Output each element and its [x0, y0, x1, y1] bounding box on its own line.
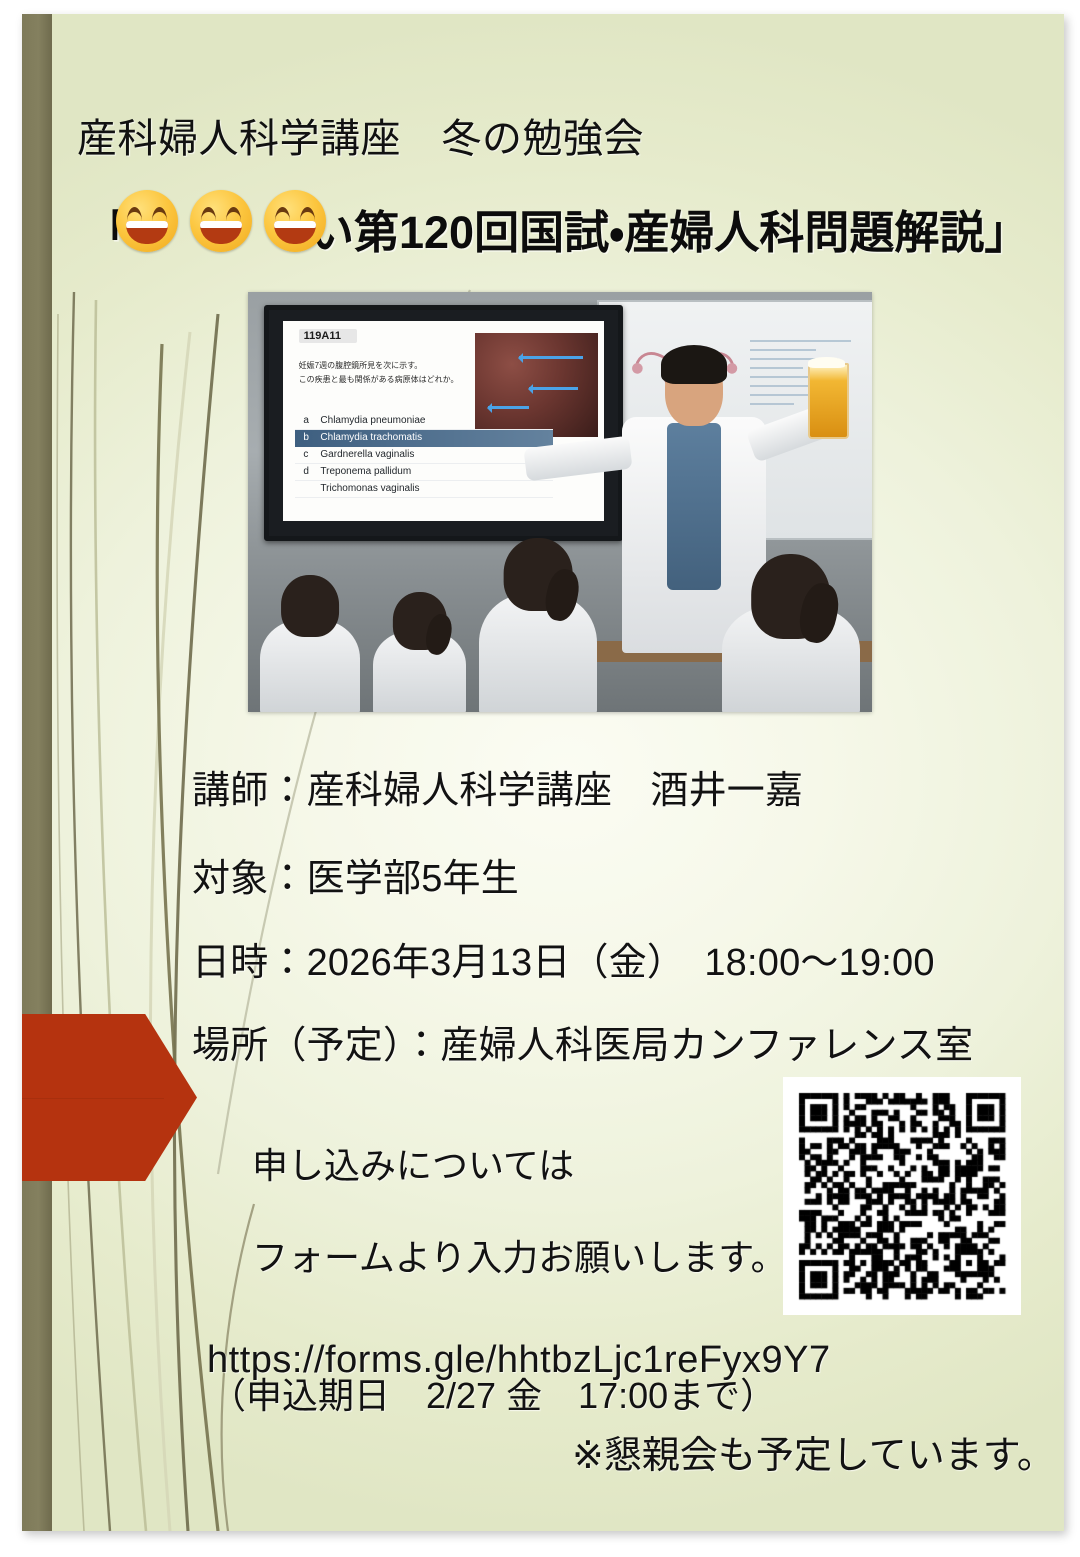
target-audience-line: 対象：医学部5年生 [192, 847, 519, 902]
option-text: Chlamydia pneumoniae [320, 415, 425, 426]
question-text: 妊娠7週の腹腔鏡所見を次に示す。 この疾患と最も関係がある病原体はどれか。 [299, 359, 498, 387]
student [479, 594, 598, 712]
left-accent-band [22, 14, 52, 1531]
photo-presentation-screen: 119A11 妊娠7週の腹腔鏡所見を次に示す。 この疾患と最も関係がある病原体は… [264, 305, 623, 542]
list-item: e Trichomonas vaginalis [295, 481, 552, 498]
application-line-2: フォームより入力お願いします。 [252, 1237, 787, 1278]
page-title: 産科婦人科学講座 冬の勉強会 [77, 106, 644, 164]
option-key: c [303, 449, 311, 460]
red-arrow-accent [22, 1014, 197, 1181]
poster-root: 産科婦人科学講座 冬の勉強会 「 い第120回国試・産婦人科問題解説」 [0, 0, 1080, 1557]
student [260, 620, 360, 712]
poster-slide: 産科婦人科学講座 冬の勉強会 「 い第120回国試・産婦人科問題解説」 [22, 14, 1064, 1531]
lecturer-line: 講師：産科婦人科学講座 酒井一嘉 [192, 759, 803, 814]
qr-code-canvas[interactable] [783, 1077, 1021, 1315]
list-item: a Chlamydia pneumoniae [295, 413, 552, 430]
option-text: Treponema pallidum [320, 466, 411, 477]
option-key: d [303, 466, 311, 477]
lecturer-hair [661, 345, 727, 384]
student [722, 605, 859, 712]
option-text: Chlamydia trachomatis [320, 432, 422, 443]
page-subtitle: 「 い第120回国試・産婦人科問題解説」 [84, 207, 1029, 258]
student [373, 631, 467, 712]
page-subtitle-wrap: 「 い第120回国試・産婦人科問題解説」 [84, 196, 1029, 258]
option-text: Trichomonas vaginalis [320, 483, 419, 494]
datetime-line: 日時：2026年3月13日（金） 18:00〜19:00 [192, 931, 935, 986]
lecture-room-photo: 119A11 妊娠7週の腹腔鏡所見を次に示す。 この疾患と最も関係がある病原体は… [248, 292, 872, 712]
list-item: c Gardnerella vaginalis [295, 447, 552, 464]
list-item: d Treponema pallidum [295, 464, 552, 481]
application-url[interactable]: https://forms.gle/hhtbzLjc1reFyx9Y7 [207, 1339, 831, 1382]
list-item: b Chlamydia trachomatis [295, 430, 552, 447]
answer-options-list: a Chlamydia pneumoniae b Chlamydia trach… [295, 413, 552, 498]
option-key: b [303, 432, 311, 443]
option-text: Gardnerella vaginalis [320, 449, 414, 460]
footnote-note: ※懇親会も予定しています。 [572, 1424, 1055, 1479]
qr-code[interactable] [783, 1077, 1021, 1315]
application-line-1: 申し込みについては [252, 1145, 574, 1186]
beer-mug-icon [808, 363, 849, 440]
place-line: 場所（予定）：産婦人科医局カンファレンス室 [192, 1014, 973, 1069]
option-key: a [303, 415, 311, 426]
question-number: 119A11 [299, 329, 357, 343]
photo-students [248, 527, 872, 712]
photo-slide-content: 119A11 妊娠7週の腹腔鏡所見を次に示す。 この疾患と最も関係がある病原体は… [283, 321, 604, 521]
arrow-seam [22, 1098, 164, 1099]
